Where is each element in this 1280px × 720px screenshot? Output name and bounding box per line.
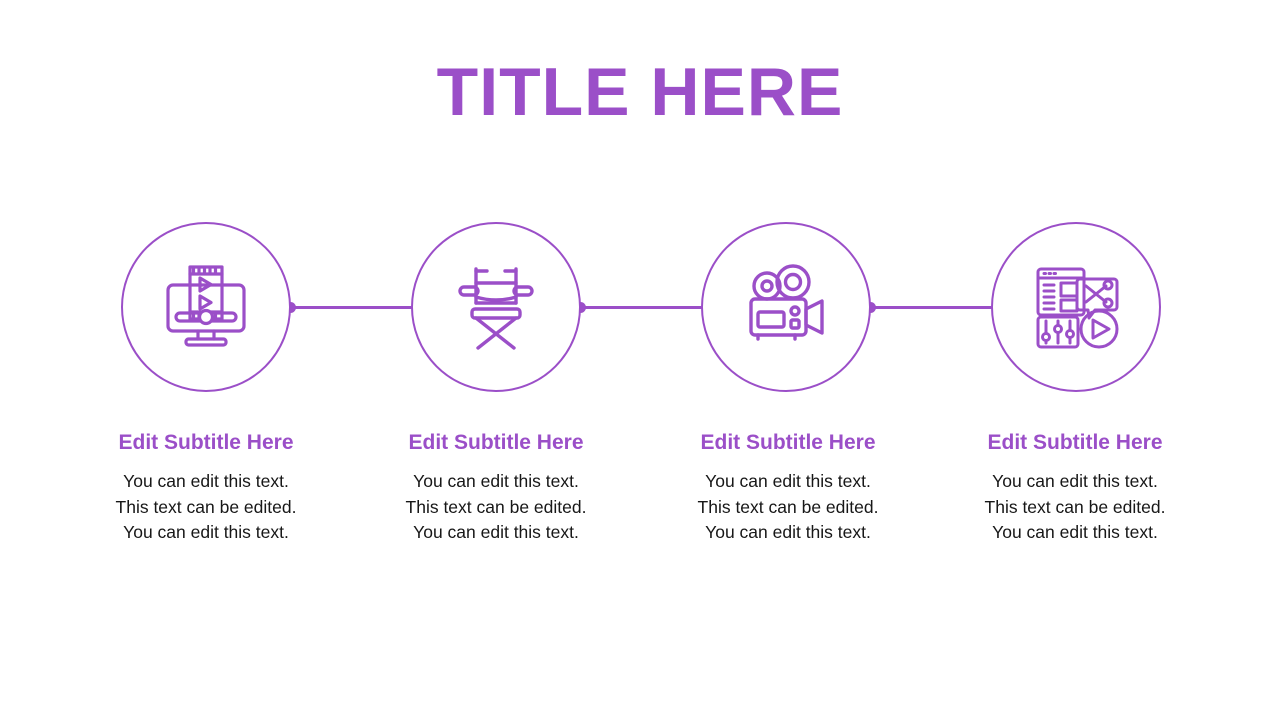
step-subtitle-3: Edit Subtitle Here [658, 430, 918, 455]
step-body-line: This text can be edited. [945, 495, 1205, 520]
step-body-line: You can edit this text. [945, 520, 1205, 545]
page-title: TITLE HERE [0, 58, 1280, 126]
process-node-1[interactable] [121, 222, 291, 392]
step-body-2: You can edit this text. This text can be… [366, 469, 626, 545]
step-body-1: You can edit this text. This text can be… [76, 469, 336, 545]
step-body-line: You can edit this text. [366, 520, 626, 545]
movie-camera-icon [738, 259, 834, 355]
process-chain [0, 222, 1280, 392]
step-subtitle-4: Edit Subtitle Here [945, 430, 1205, 455]
step-body-4: You can edit this text. This text can be… [945, 469, 1205, 545]
step-body-line: You can edit this text. [658, 520, 918, 545]
step-text-column-2: Edit Subtitle Here You can edit this tex… [366, 430, 626, 545]
step-body-3: You can edit this text. This text can be… [658, 469, 918, 545]
step-body-line: This text can be edited. [658, 495, 918, 520]
step-body-line: This text can be edited. [76, 495, 336, 520]
process-node-2[interactable] [411, 222, 581, 392]
step-body-line: You can edit this text. [945, 469, 1205, 494]
step-subtitle-2: Edit Subtitle Here [366, 430, 626, 455]
connector-line-1-2 [290, 306, 420, 309]
video-editing-software-icon [1028, 259, 1124, 355]
slide-canvas: TITLE HERE [0, 0, 1280, 720]
step-subtitle-1: Edit Subtitle Here [76, 430, 336, 455]
step-body-line: You can edit this text. [76, 469, 336, 494]
step-text-column-1: Edit Subtitle Here You can edit this tex… [76, 430, 336, 545]
step-body-line: You can edit this text. [76, 520, 336, 545]
step-body-line: You can edit this text. [658, 469, 918, 494]
connector-line-2-3 [580, 306, 710, 309]
process-node-3[interactable] [701, 222, 871, 392]
video-player-monitor-icon [158, 259, 254, 355]
director-chair-icon [448, 259, 544, 355]
connector-line-3-4 [870, 306, 1000, 309]
step-text-column-4: Edit Subtitle Here You can edit this tex… [945, 430, 1205, 545]
step-body-line: You can edit this text. [366, 469, 626, 494]
process-node-4[interactable] [991, 222, 1161, 392]
step-body-line: This text can be edited. [366, 495, 626, 520]
step-text-column-3: Edit Subtitle Here You can edit this tex… [658, 430, 918, 545]
